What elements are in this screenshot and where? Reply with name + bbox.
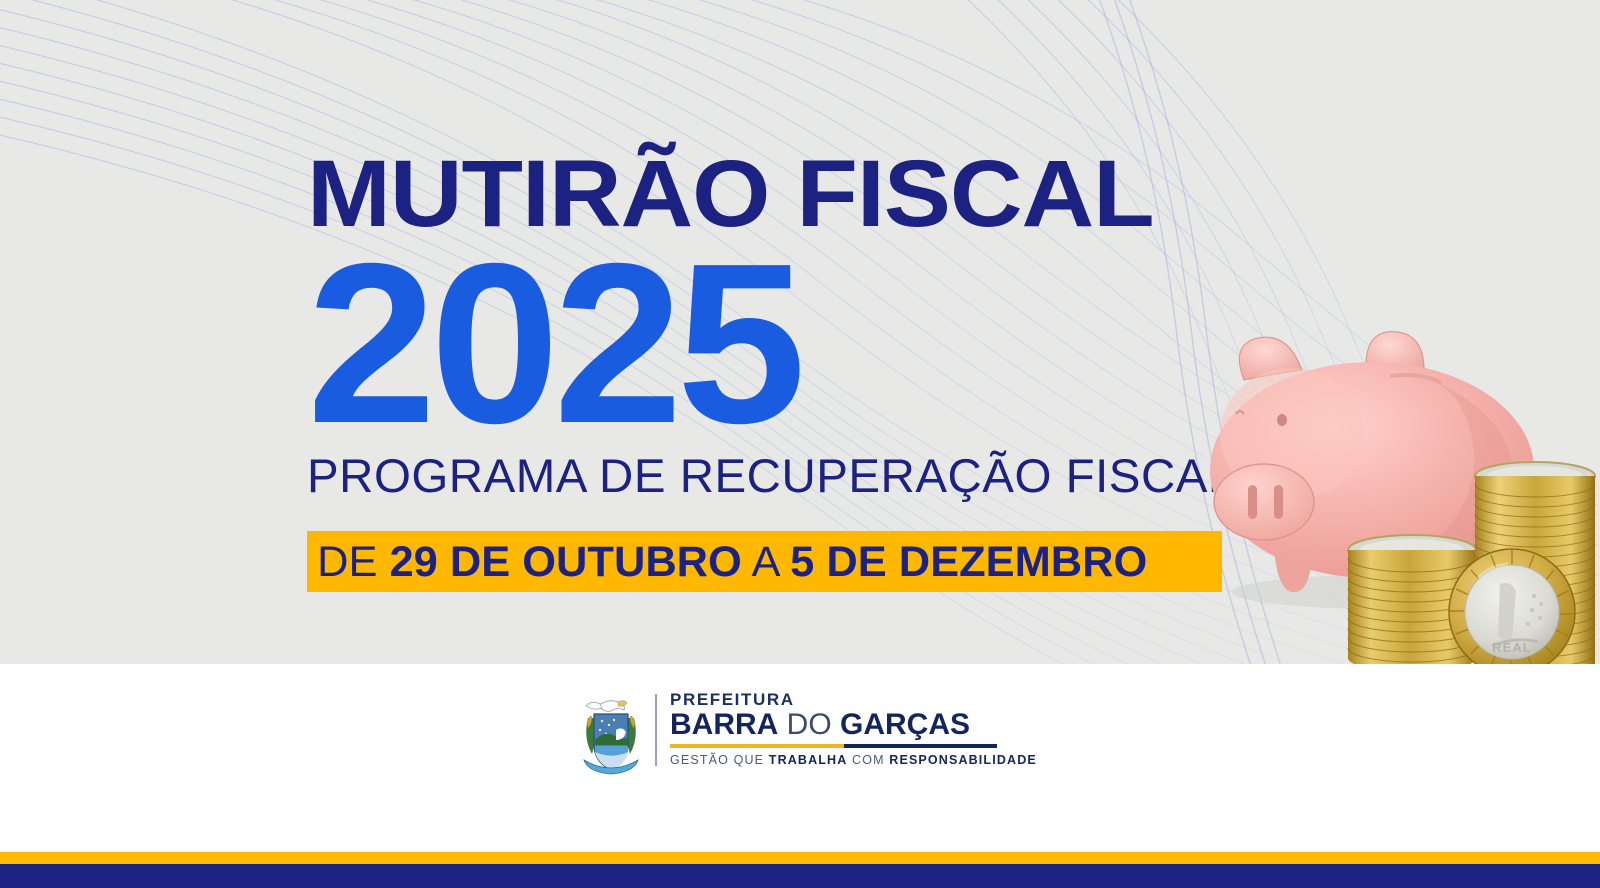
footer-bar-navy [0,864,1600,888]
coat-of-arms-icon [578,690,644,776]
date-start: 29 DE OUTUBRO [390,538,742,586]
banner-subtitle: PROGRAMA DE RECUPERAÇÃO FISCAL [307,450,1236,502]
date-connector: A [742,538,790,586]
svg-text:REAL: REAL [1492,640,1531,655]
date-band: DE 29 DE OUTUBRO A 5 DE DEZEMBRO [307,531,1222,592]
logo-prefeitura-label: PREFEITURA [670,690,1037,709]
logo-underline-rule [670,744,997,748]
logo-rule-yellow [670,744,844,748]
date-range-text: DE 29 DE OUTUBRO A 5 DE DEZEMBRO [307,539,1147,585]
logo-city-connector: DO [778,708,840,741]
logo-text-block: PREFEITURA BARRA DO GARÇAS GESTÃO QUE TR… [670,690,1037,767]
prefeitura-logo: PREFEITURA BARRA DO GARÇAS GESTÃO QUE TR… [578,690,1037,776]
tagline-part-4: RESPONSABILIDADE [889,753,1037,767]
date-end: 5 DE DEZEMBRO [790,538,1147,586]
tagline-part-2: TRABALHA [769,753,848,767]
logo-city-part-1: BARRA [670,708,778,741]
headline-block: MUTIRÃO FISCAL 2025 PROGRAMA DE RECUPERA… [307,150,1227,502]
logo-city-name: BARRA DO GARÇAS [670,708,1037,741]
banner-year: 2025 [307,244,1245,444]
logo-divider [655,694,657,766]
logo-rule-navy [844,744,997,748]
banner-canvas: MUTIRÃO FISCAL 2025 PROGRAMA DE RECUPERA… [0,0,1600,888]
1-real-coin: REAL [1448,548,1576,664]
tagline-part-3: COM [847,753,889,767]
logo-city-part-2: GARÇAS [840,708,970,741]
date-prefix: DE [317,538,389,586]
logo-tagline: GESTÃO QUE TRABALHA COM RESPONSABILIDADE [670,753,1037,767]
tagline-part-1: GESTÃO QUE [670,753,769,767]
hero-section: MUTIRÃO FISCAL 2025 PROGRAMA DE RECUPERA… [0,0,1600,664]
footer-bar-yellow [0,852,1600,864]
